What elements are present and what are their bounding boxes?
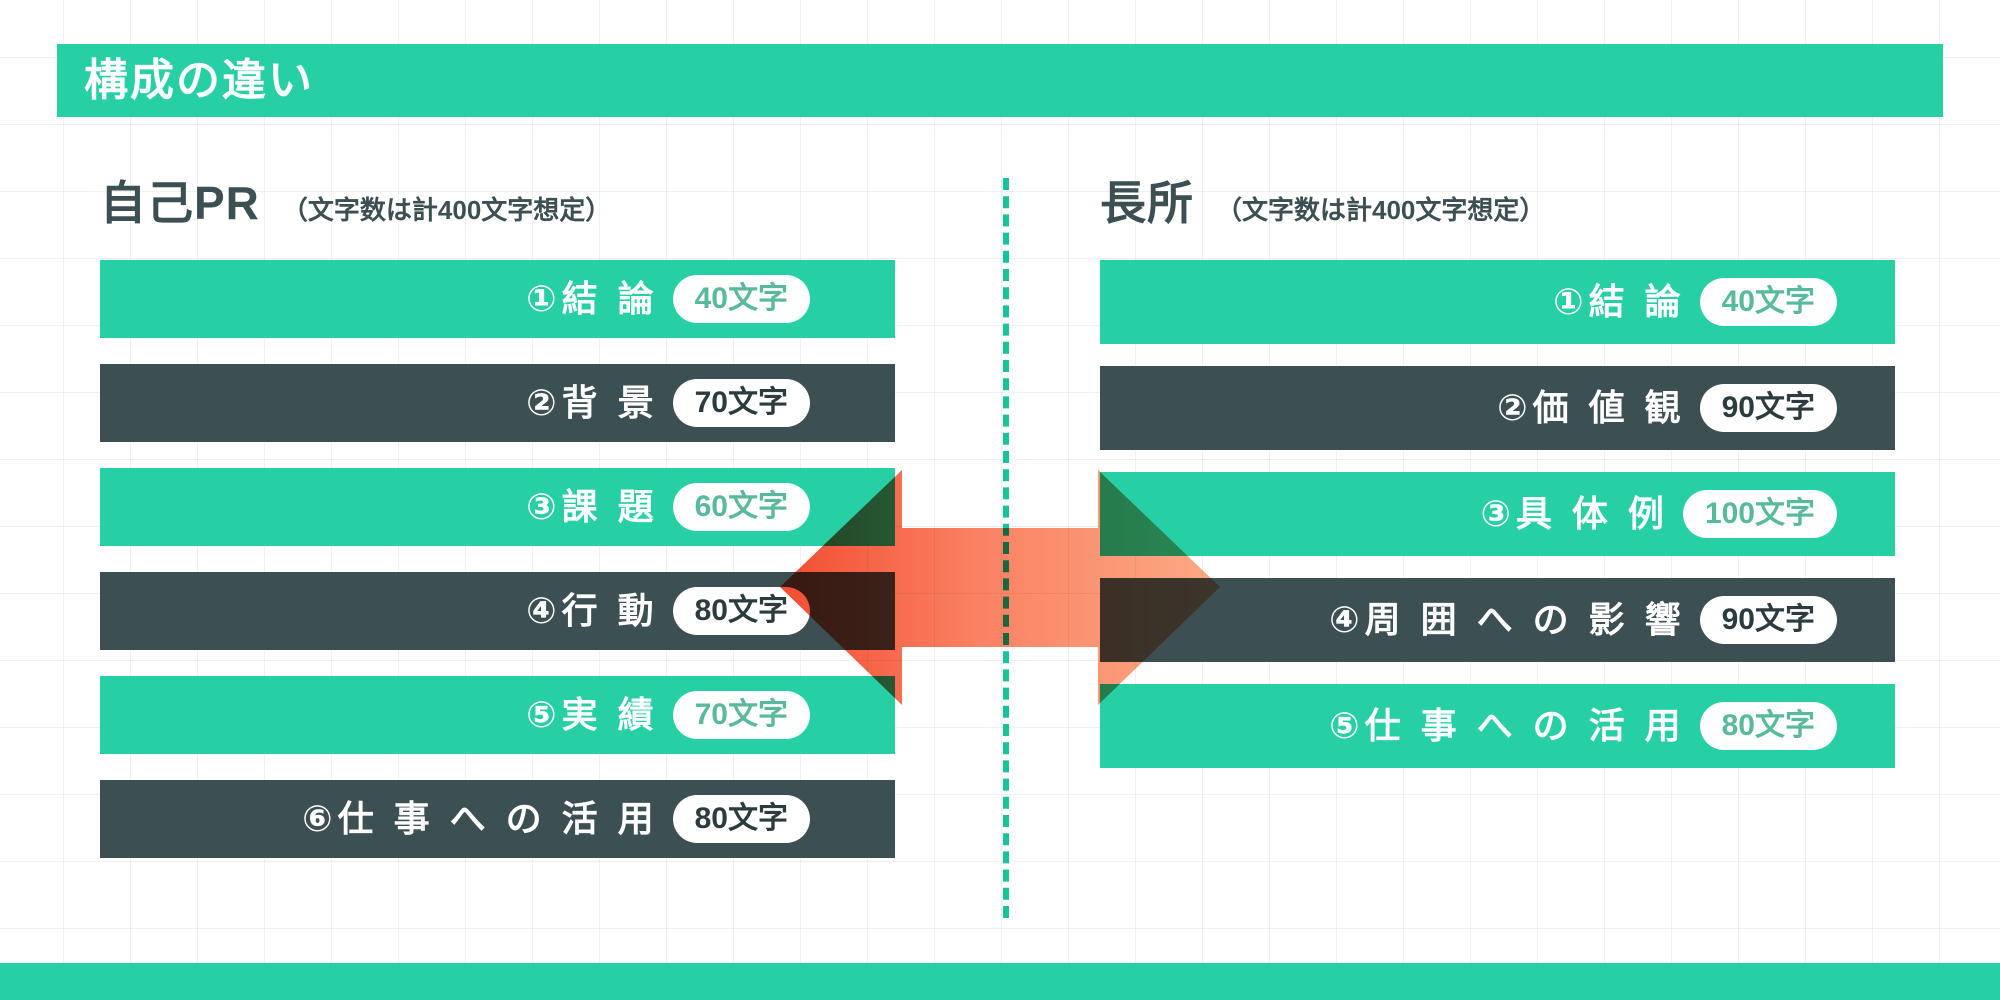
list-item[interactable]: ④ 行 動 80文字 [100, 572, 895, 650]
page-title: 構成の違い [84, 59, 314, 103]
column-header: 長所 （文字数は計400文字想定） [1100, 180, 1910, 242]
char-count-badge: 100文字 [1683, 490, 1837, 538]
row-number: ③ [526, 489, 561, 525]
char-count-badge: 80文字 [673, 795, 810, 843]
row-label: 価 値 観 [1533, 390, 1686, 426]
column-strength: 長所 （文字数は計400文字想定） ① 結 論 40文字 ② 価 値 観 90文… [1100, 180, 1910, 790]
row-number: ④ [526, 593, 561, 629]
list-item[interactable]: ③ 課 題 60文字 [100, 468, 895, 546]
column-subtitle: （文字数は計400文字想定） [282, 197, 611, 223]
char-count-badge: 80文字 [1700, 702, 1837, 750]
char-count-badge: 90文字 [1700, 596, 1837, 644]
char-count-badge: 70文字 [673, 691, 810, 739]
row-label: 結 論 [1589, 284, 1686, 320]
list-item[interactable]: ② 価 値 観 90文字 [1100, 366, 1895, 450]
row-number: ② [526, 385, 561, 421]
column-header: 自己PR （文字数は計400文字想定） [100, 180, 910, 242]
row-list: ① 結 論 40文字 ② 価 値 観 90文字 ③ 具 体 例 100文字 [1100, 260, 1910, 768]
row-label: 実 績 [562, 697, 659, 733]
list-item[interactable]: ④ 周 囲 へ の 影 響 90文字 [1100, 578, 1895, 662]
infographic-canvas: 構成の違い 自己PR （文字数は計400文字想定） ① 結 論 40文字 ② 背… [0, 0, 2000, 1000]
char-count-badge: 80文字 [673, 587, 810, 635]
column-self-pr: 自己PR （文字数は計400文字想定） ① 結 論 40文字 ② 背 景 70文… [100, 180, 910, 884]
char-count-badge: 60文字 [673, 483, 810, 531]
row-label: 背 景 [562, 385, 659, 421]
column-title: 長所 [1100, 180, 1194, 226]
row-number: ① [526, 281, 561, 317]
row-number: ⑥ [302, 801, 337, 837]
row-label: 課 題 [562, 489, 659, 525]
row-number: ① [1553, 284, 1588, 320]
list-item[interactable]: ① 結 論 40文字 [100, 260, 895, 338]
row-number: ⑤ [1329, 708, 1364, 744]
list-item[interactable]: ⑥ 仕 事 へ の 活 用 80文字 [100, 780, 895, 858]
row-number: ④ [1329, 602, 1364, 638]
list-item[interactable]: ① 結 論 40文字 [1100, 260, 1895, 344]
row-label: 仕 事 へ の 活 用 [338, 801, 659, 837]
row-label: 周 囲 へ の 影 響 [1365, 602, 1686, 638]
row-label: 行 動 [562, 593, 659, 629]
row-number: ③ [1480, 496, 1515, 532]
row-label: 結 論 [562, 281, 659, 317]
row-label: 仕 事 へ の 活 用 [1365, 708, 1686, 744]
list-item[interactable]: ⑤ 仕 事 へ の 活 用 80文字 [1100, 684, 1895, 768]
row-number: ⑤ [526, 697, 561, 733]
list-item[interactable]: ③ 具 体 例 100文字 [1100, 472, 1895, 556]
char-count-badge: 90文字 [1700, 384, 1837, 432]
row-label: 具 体 例 [1516, 496, 1669, 532]
row-number: ② [1497, 390, 1532, 426]
char-count-badge: 70文字 [673, 379, 810, 427]
column-divider [1003, 178, 1009, 918]
char-count-badge: 40文字 [1700, 278, 1837, 326]
title-banner: 構成の違い [57, 44, 1943, 117]
list-item[interactable]: ⑤ 実 績 70文字 [100, 676, 895, 754]
list-item[interactable]: ② 背 景 70文字 [100, 364, 895, 442]
char-count-badge: 40文字 [673, 275, 810, 323]
column-subtitle: （文字数は計400文字想定） [1216, 197, 1545, 223]
bottom-accent-band [0, 963, 2000, 1000]
row-list: ① 結 論 40文字 ② 背 景 70文字 ③ 課 題 60文字 [100, 260, 910, 858]
column-title: 自己PR [100, 180, 260, 226]
